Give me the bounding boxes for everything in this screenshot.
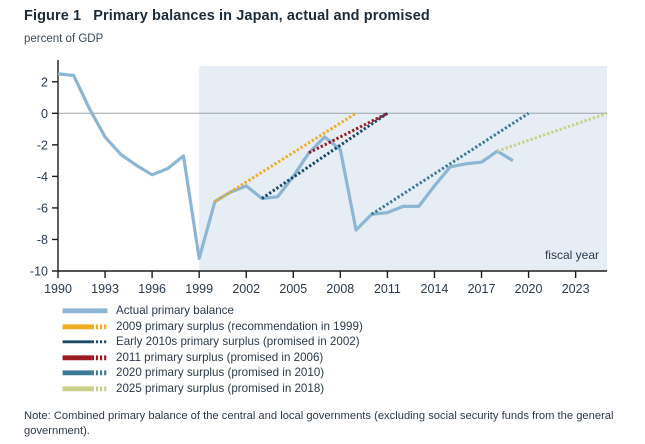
x-axis-tick-label: 2014 [421, 282, 449, 296]
x-axis-tick-label: 2002 [232, 282, 260, 296]
x-axis-tick-label: 1993 [91, 282, 119, 296]
legend-swatch-2025 [62, 381, 108, 397]
x-axis-tick-label: 2005 [279, 282, 307, 296]
legend-item: 2011 primary surplus (promised in 2006) [62, 350, 502, 366]
legend-label: Actual primary balance [116, 303, 234, 319]
x-axis-tick-label: 2011 [374, 282, 401, 296]
x-axis-tick-label: 2020 [515, 282, 543, 296]
legend-label: 2011 primary surplus (promised in 2006) [116, 350, 323, 366]
y-axis-tick-label: 0 [41, 107, 48, 121]
legend-swatch-early2010s [62, 334, 108, 350]
x-axis-tick-label: 1990 [44, 282, 72, 296]
legend-label: 2009 primary surplus (recommendation in … [116, 319, 363, 335]
x-axis-tick-label: 1999 [185, 282, 213, 296]
legend-label: 2025 primary surplus (promised in 2018) [116, 381, 324, 397]
legend-swatch-2020 [62, 365, 108, 381]
legend-label: Early 2010s primary surplus (promised in… [116, 334, 360, 350]
legend-item: 2009 primary surplus (recommendation in … [62, 319, 502, 335]
legend-item: 2025 primary surplus (promised in 2018) [62, 381, 502, 397]
legend-item: Early 2010s primary surplus (promised in… [62, 334, 502, 350]
x-axis-tick-label: 2008 [326, 282, 354, 296]
legend-swatch-2011 [62, 350, 108, 366]
x-axis-tick-label: 2017 [468, 282, 496, 296]
shaded-forecast-region [199, 66, 607, 271]
chart-plot: 20-2-4-6-8-10199019931996199920022005200… [0, 0, 645, 300]
y-axis-tick-label: -8 [37, 233, 48, 247]
x-axis-tick-label: 2023 [562, 282, 590, 296]
legend-swatch-actual [62, 303, 108, 319]
fiscal-year-label: fiscal year [545, 248, 599, 262]
x-axis-tick-label: 1996 [138, 282, 166, 296]
chart-legend: Actual primary balance 2009 primary surp… [62, 303, 502, 397]
figure-note: Note: Combined primary balance of the ce… [24, 409, 624, 438]
y-axis-tick-label: 2 [41, 75, 48, 89]
legend-label: 2020 primary surplus (promised in 2010) [116, 365, 324, 381]
legend-item: 2020 primary surplus (promised in 2010) [62, 365, 502, 381]
y-axis-tick-label: -2 [37, 138, 48, 152]
legend-item: Actual primary balance [62, 303, 502, 319]
y-axis-tick-label: -10 [30, 265, 48, 279]
legend-swatch-2009 [62, 319, 108, 335]
y-axis-tick-label: -4 [37, 170, 48, 184]
y-axis-tick-label: -6 [37, 201, 48, 215]
